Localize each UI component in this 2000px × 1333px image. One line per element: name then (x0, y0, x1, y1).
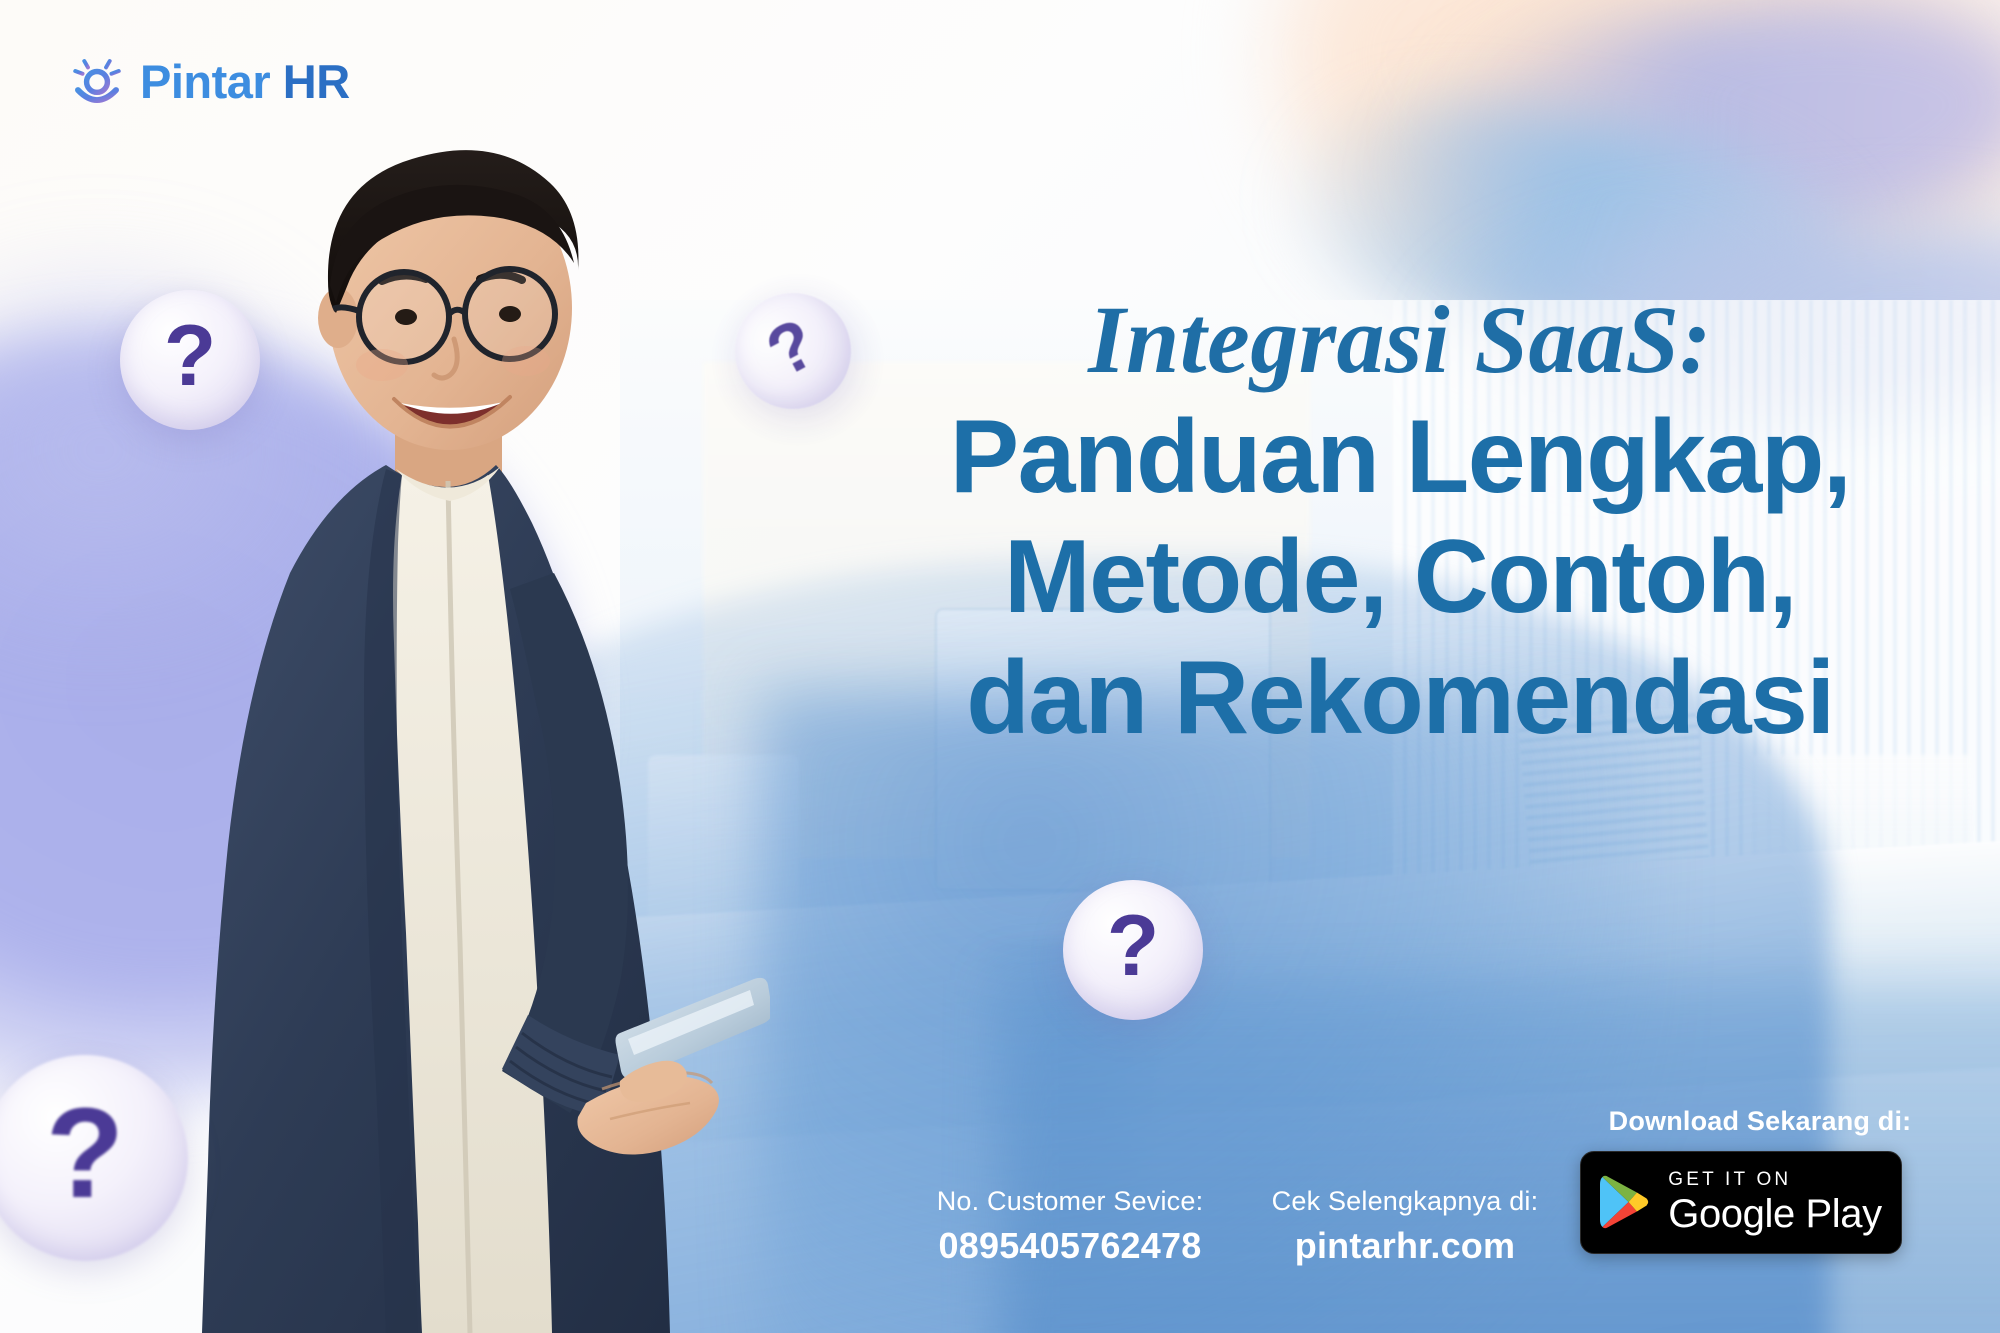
periwinkle-blob-left (0, 330, 570, 1110)
person-photo (150, 103, 770, 1333)
question-mark-glyph: ? (46, 1090, 124, 1218)
website-block: Cek Selengkapnya di: pintarhr.com (1255, 1185, 1555, 1268)
headline-line-3: Metode, Contoh, (860, 517, 1940, 638)
banner-canvas: ? ? ? ? (0, 0, 2000, 1333)
brand-logo[interactable]: Pintar HR (68, 52, 350, 110)
download-block: Download Sekarang di: GET IT ON Google P… (1580, 1105, 1940, 1254)
lavender-swoosh (1386, 0, 2000, 303)
question-mark-glyph: ? (164, 313, 217, 399)
google-play-badge[interactable]: GET IT ON Google Play (1580, 1151, 1902, 1254)
office-desk-top (620, 835, 2000, 1076)
website-label: Cek Selengkapnya di: (1255, 1185, 1555, 1219)
customer-service-block: No. Customer Sevice: 0895405762478 (905, 1185, 1235, 1268)
website-url[interactable]: pintarhr.com (1255, 1223, 1555, 1268)
download-label: Download Sekarang di: (1580, 1105, 1940, 1139)
headline-line-2: Panduan Lengkap, (860, 397, 1940, 518)
office-chair-left (648, 755, 800, 1024)
headline-line-4: dan Rekomendasi (860, 638, 1940, 759)
customer-service-number[interactable]: 0895405762478 (905, 1223, 1235, 1268)
question-bubble-icon: ? (715, 273, 872, 430)
question-bubble-icon: ? (0, 1055, 188, 1261)
brand-name-second: HR (283, 55, 350, 108)
office-shelf (1752, 755, 1973, 1024)
question-bubble-icon: ? (1063, 880, 1203, 1020)
badge-big-text: Google Play (1668, 1194, 1882, 1234)
customer-service-label: No. Customer Sevice: (905, 1185, 1235, 1219)
google-play-badge-text: GET IT ON Google Play (1668, 1170, 1882, 1234)
brand-name: Pintar HR (140, 58, 350, 105)
headline-line-1: Integrasi SaaS: (860, 290, 1940, 391)
google-play-triangle-icon (1600, 1174, 1650, 1230)
question-bubble-icon: ? (120, 290, 260, 430)
question-mark-glyph: ? (1107, 903, 1160, 989)
peach-blob-accent (1440, 0, 2000, 320)
question-mark-glyph: ? (756, 307, 827, 389)
brand-name-first: Pintar (140, 55, 270, 108)
headline-block: Integrasi SaaS: Panduan Lengkap, Metode,… (860, 290, 1940, 759)
badge-small-text: GET IT ON (1668, 1170, 1882, 1189)
pintar-hr-sun-person-icon (68, 52, 126, 110)
